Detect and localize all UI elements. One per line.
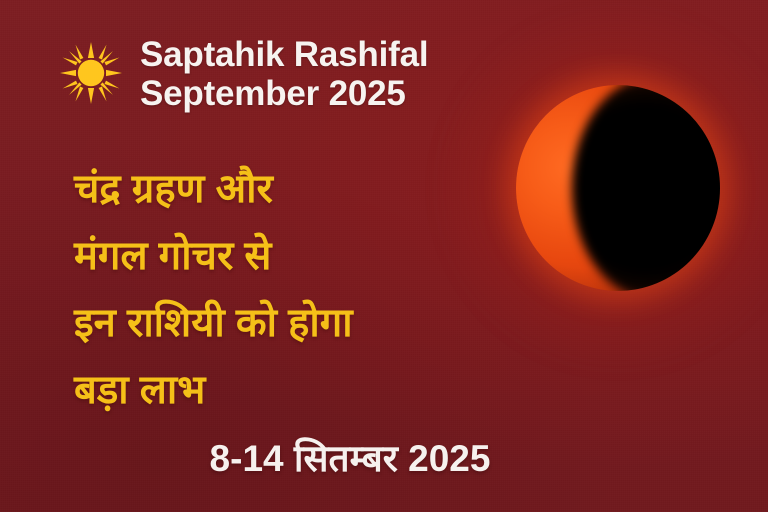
eclipse-shadow-clip xyxy=(516,85,720,291)
header-title-block: Saptahik Rashifal September 2025 xyxy=(140,36,428,113)
header: Saptahik Rashifal September 2025 xyxy=(60,36,428,113)
headline: चंद्र ग्रहण और मंगल गोचर से इन राशियी को… xyxy=(74,156,544,424)
headline-line-1: चंद्र ग्रहण और xyxy=(74,156,544,223)
header-title-line-1: Saptahik Rashifal xyxy=(140,36,428,75)
headline-line-3: इन राशियी को होगा xyxy=(74,290,544,357)
poster-canvas: Saptahik Rashifal September 2025 चंद्र ग… xyxy=(0,0,768,512)
headline-line-4: बड़ा लाभ xyxy=(74,357,544,424)
header-title-line-2: September 2025 xyxy=(140,75,428,114)
eclipse-illustration xyxy=(516,85,720,291)
headline-line-2: मंगल गोचर से xyxy=(74,223,544,290)
eclipse-umbra-shadow xyxy=(572,85,720,291)
date-range-text: 8-14 सितम्बर 2025 xyxy=(0,438,700,481)
sun-icon xyxy=(60,42,122,109)
